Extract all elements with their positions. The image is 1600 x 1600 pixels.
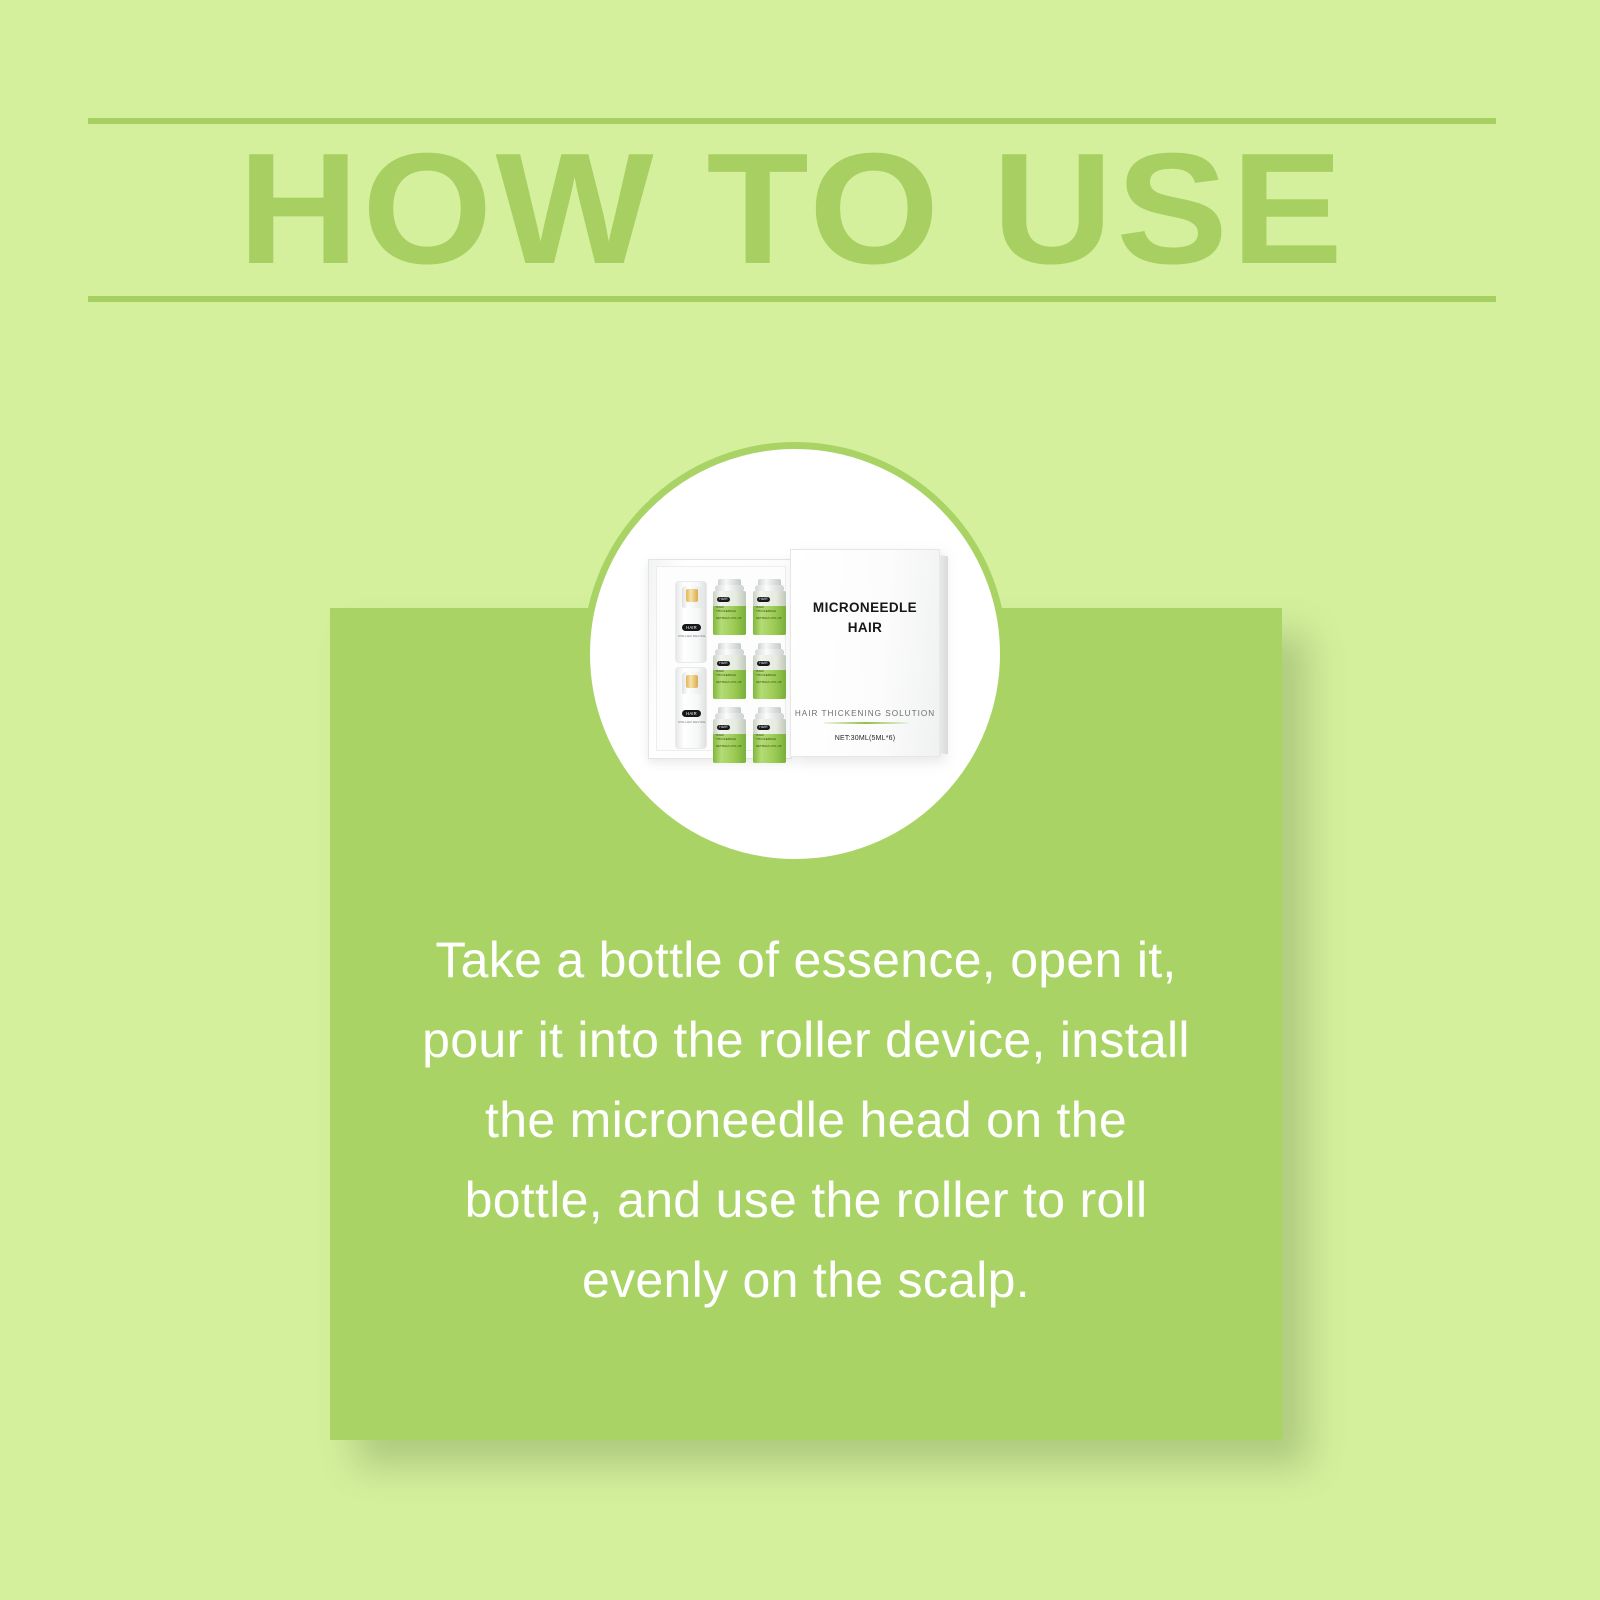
vial-line1: HAIR THICKENING [756,605,782,613]
vial: HAIR HAIR THICKENING NET:5ML/0.17FL.OZ [712,643,747,699]
roller-head-icon [682,586,702,608]
poster-canvas: HOW TO USE HAIR ROLLER DEVICE [0,0,1600,1600]
roller-head-icon [682,672,702,694]
lid-accent-rule [824,722,908,724]
vial-badge: HAIR [757,597,770,602]
lid-edge [939,555,948,754]
page-title: HOW TO USE [46,114,1538,304]
vial: HAIR HAIR THICKENING NET:5ML/0.17FL.OZ [752,579,787,635]
vial-line3: NET:5ML/0.17FL.OZ [716,745,742,748]
instruction-text: Take a bottle of essence, open it, pour … [410,920,1202,1320]
vial-line3: NET:5ML/0.17FL.OZ [756,681,782,684]
lid-title-line1: MICRONEEDLE [791,598,939,618]
roller-label: ROLLER DEVICE [678,634,706,638]
vial-line3: NET:5ML/0.17FL.OZ [756,617,782,620]
vial-line3: NET:5ML/0.17FL.OZ [756,745,782,748]
lid-title-line2: HAIR [791,618,939,638]
vial-badge: HAIR [757,725,770,730]
vial-line1: HAIR THICKENING [756,669,782,677]
product-photo: HAIR ROLLER DEVICE HAIR ROLLER DEVICE [590,449,1000,859]
lid-subtitle: HAIR THICKENING SOLUTION [791,709,939,718]
lid-net-weight: NET:30ML(5ML*6) [791,735,939,742]
lid-title: MICRONEEDLE HAIR [791,598,939,638]
vial-line1: HAIR THICKENING [716,669,742,677]
vial-line1: HAIR THICKENING [756,733,782,741]
vial-badge: HAIR [717,725,730,730]
product-lid: MICRONEEDLE HAIR HAIR THICKENING SOLUTIO… [790,549,940,757]
roller-needle-icon [686,675,698,688]
roller-device-2: HAIR ROLLER DEVICE [675,667,707,749]
product-image-circle: HAIR ROLLER DEVICE HAIR ROLLER DEVICE [583,442,1007,866]
product-tray: HAIR ROLLER DEVICE HAIR ROLLER DEVICE [648,559,792,759]
vial-badge: HAIR [757,661,770,666]
vial-line1: HAIR THICKENING [716,605,742,613]
vial: HAIR HAIR THICKENING NET:5ML/0.17FL.OZ [712,579,747,635]
vial: HAIR HAIR THICKENING NET:5ML/0.17FL.OZ [752,643,787,699]
roller-badge: HAIR [682,624,701,631]
header-block: HOW TO USE [88,118,1496,302]
vial-line1: HAIR THICKENING [716,733,742,741]
roller-badge: HAIR [682,710,701,717]
vial-badge: HAIR [717,597,730,602]
roller-label: ROLLER DEVICE [678,720,706,724]
vial: HAIR HAIR THICKENING NET:5ML/0.17FL.OZ [712,707,747,763]
roller-device-1: HAIR ROLLER DEVICE [675,581,707,663]
vial: HAIR HAIR THICKENING NET:5ML/0.17FL.OZ [752,707,787,763]
header-rule-bottom [88,296,1496,302]
roller-needle-icon [686,589,698,602]
vial-line3: NET:5ML/0.17FL.OZ [716,617,742,620]
tray-inner: HAIR ROLLER DEVICE HAIR ROLLER DEVICE [656,566,786,751]
vial-badge: HAIR [717,661,730,666]
vial-line3: NET:5ML/0.17FL.OZ [716,681,742,684]
